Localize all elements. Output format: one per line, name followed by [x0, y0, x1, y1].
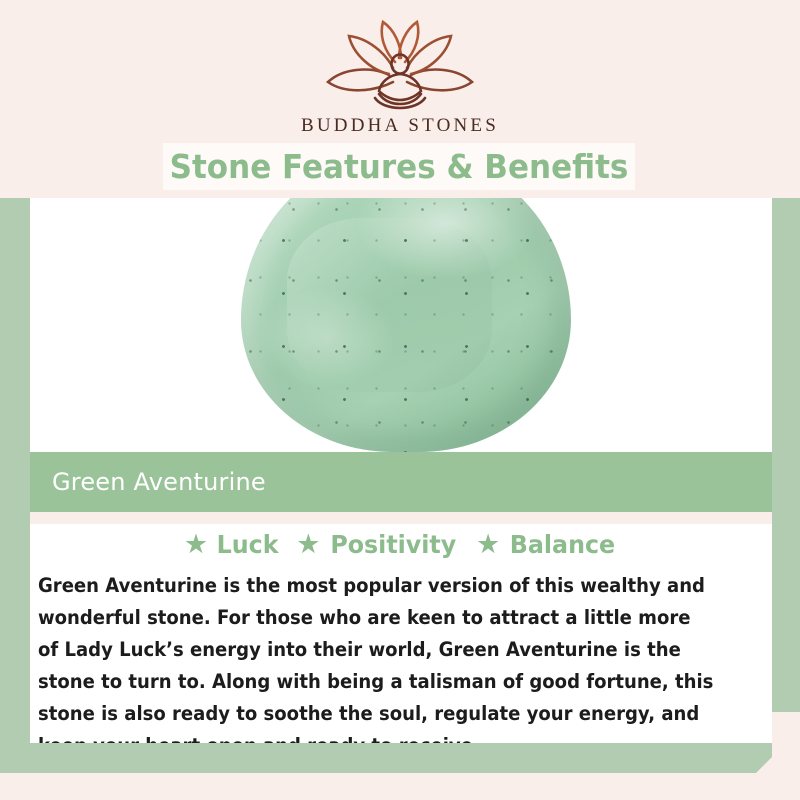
label-underline-strip — [30, 512, 772, 524]
content-card: Green Aventurine ★ Luck ★ Positivity ★ B… — [30, 198, 772, 743]
benefit-item: ★ Positivity — [296, 530, 460, 559]
brand-logo: BUDDHA STONES — [0, 18, 800, 137]
brand-name: BUDDHA STONES — [0, 115, 800, 137]
frame-accent-bottom — [0, 743, 772, 773]
star-icon: ★ — [476, 531, 500, 558]
star-icon: ★ — [296, 531, 320, 558]
page-title: Stone Features & Benefits — [170, 147, 629, 186]
star-icon: ★ — [184, 531, 208, 558]
stone-photo — [30, 198, 772, 454]
poster-header: BUDDHA STONES Stone Features & Benefits — [0, 0, 800, 198]
frame-notch-bottom-right — [756, 757, 772, 773]
green-aventurine-stone-image — [241, 198, 571, 452]
benefit-label: Luck — [217, 530, 279, 559]
benefit-item: ★ Luck — [184, 530, 280, 559]
benefit-item: ★ Balance — [476, 530, 618, 559]
stone-description: Green Aventurine is the most popular ver… — [38, 570, 715, 743]
frame-accent-left — [0, 198, 30, 773]
stone-name-band: Green Aventurine — [30, 452, 772, 512]
lotus-meditation-icon — [315, 18, 485, 113]
benefits-row: ★ Luck ★ Positivity ★ Balance — [30, 530, 772, 559]
benefit-label: Balance — [510, 530, 615, 559]
stone-info-poster: BUDDHA STONES Stone Features & Benefits … — [0, 0, 800, 800]
title-banner: Stone Features & Benefits — [163, 143, 635, 190]
stone-name-label: Green Aventurine — [52, 468, 266, 496]
benefit-label: Positivity — [331, 530, 457, 559]
